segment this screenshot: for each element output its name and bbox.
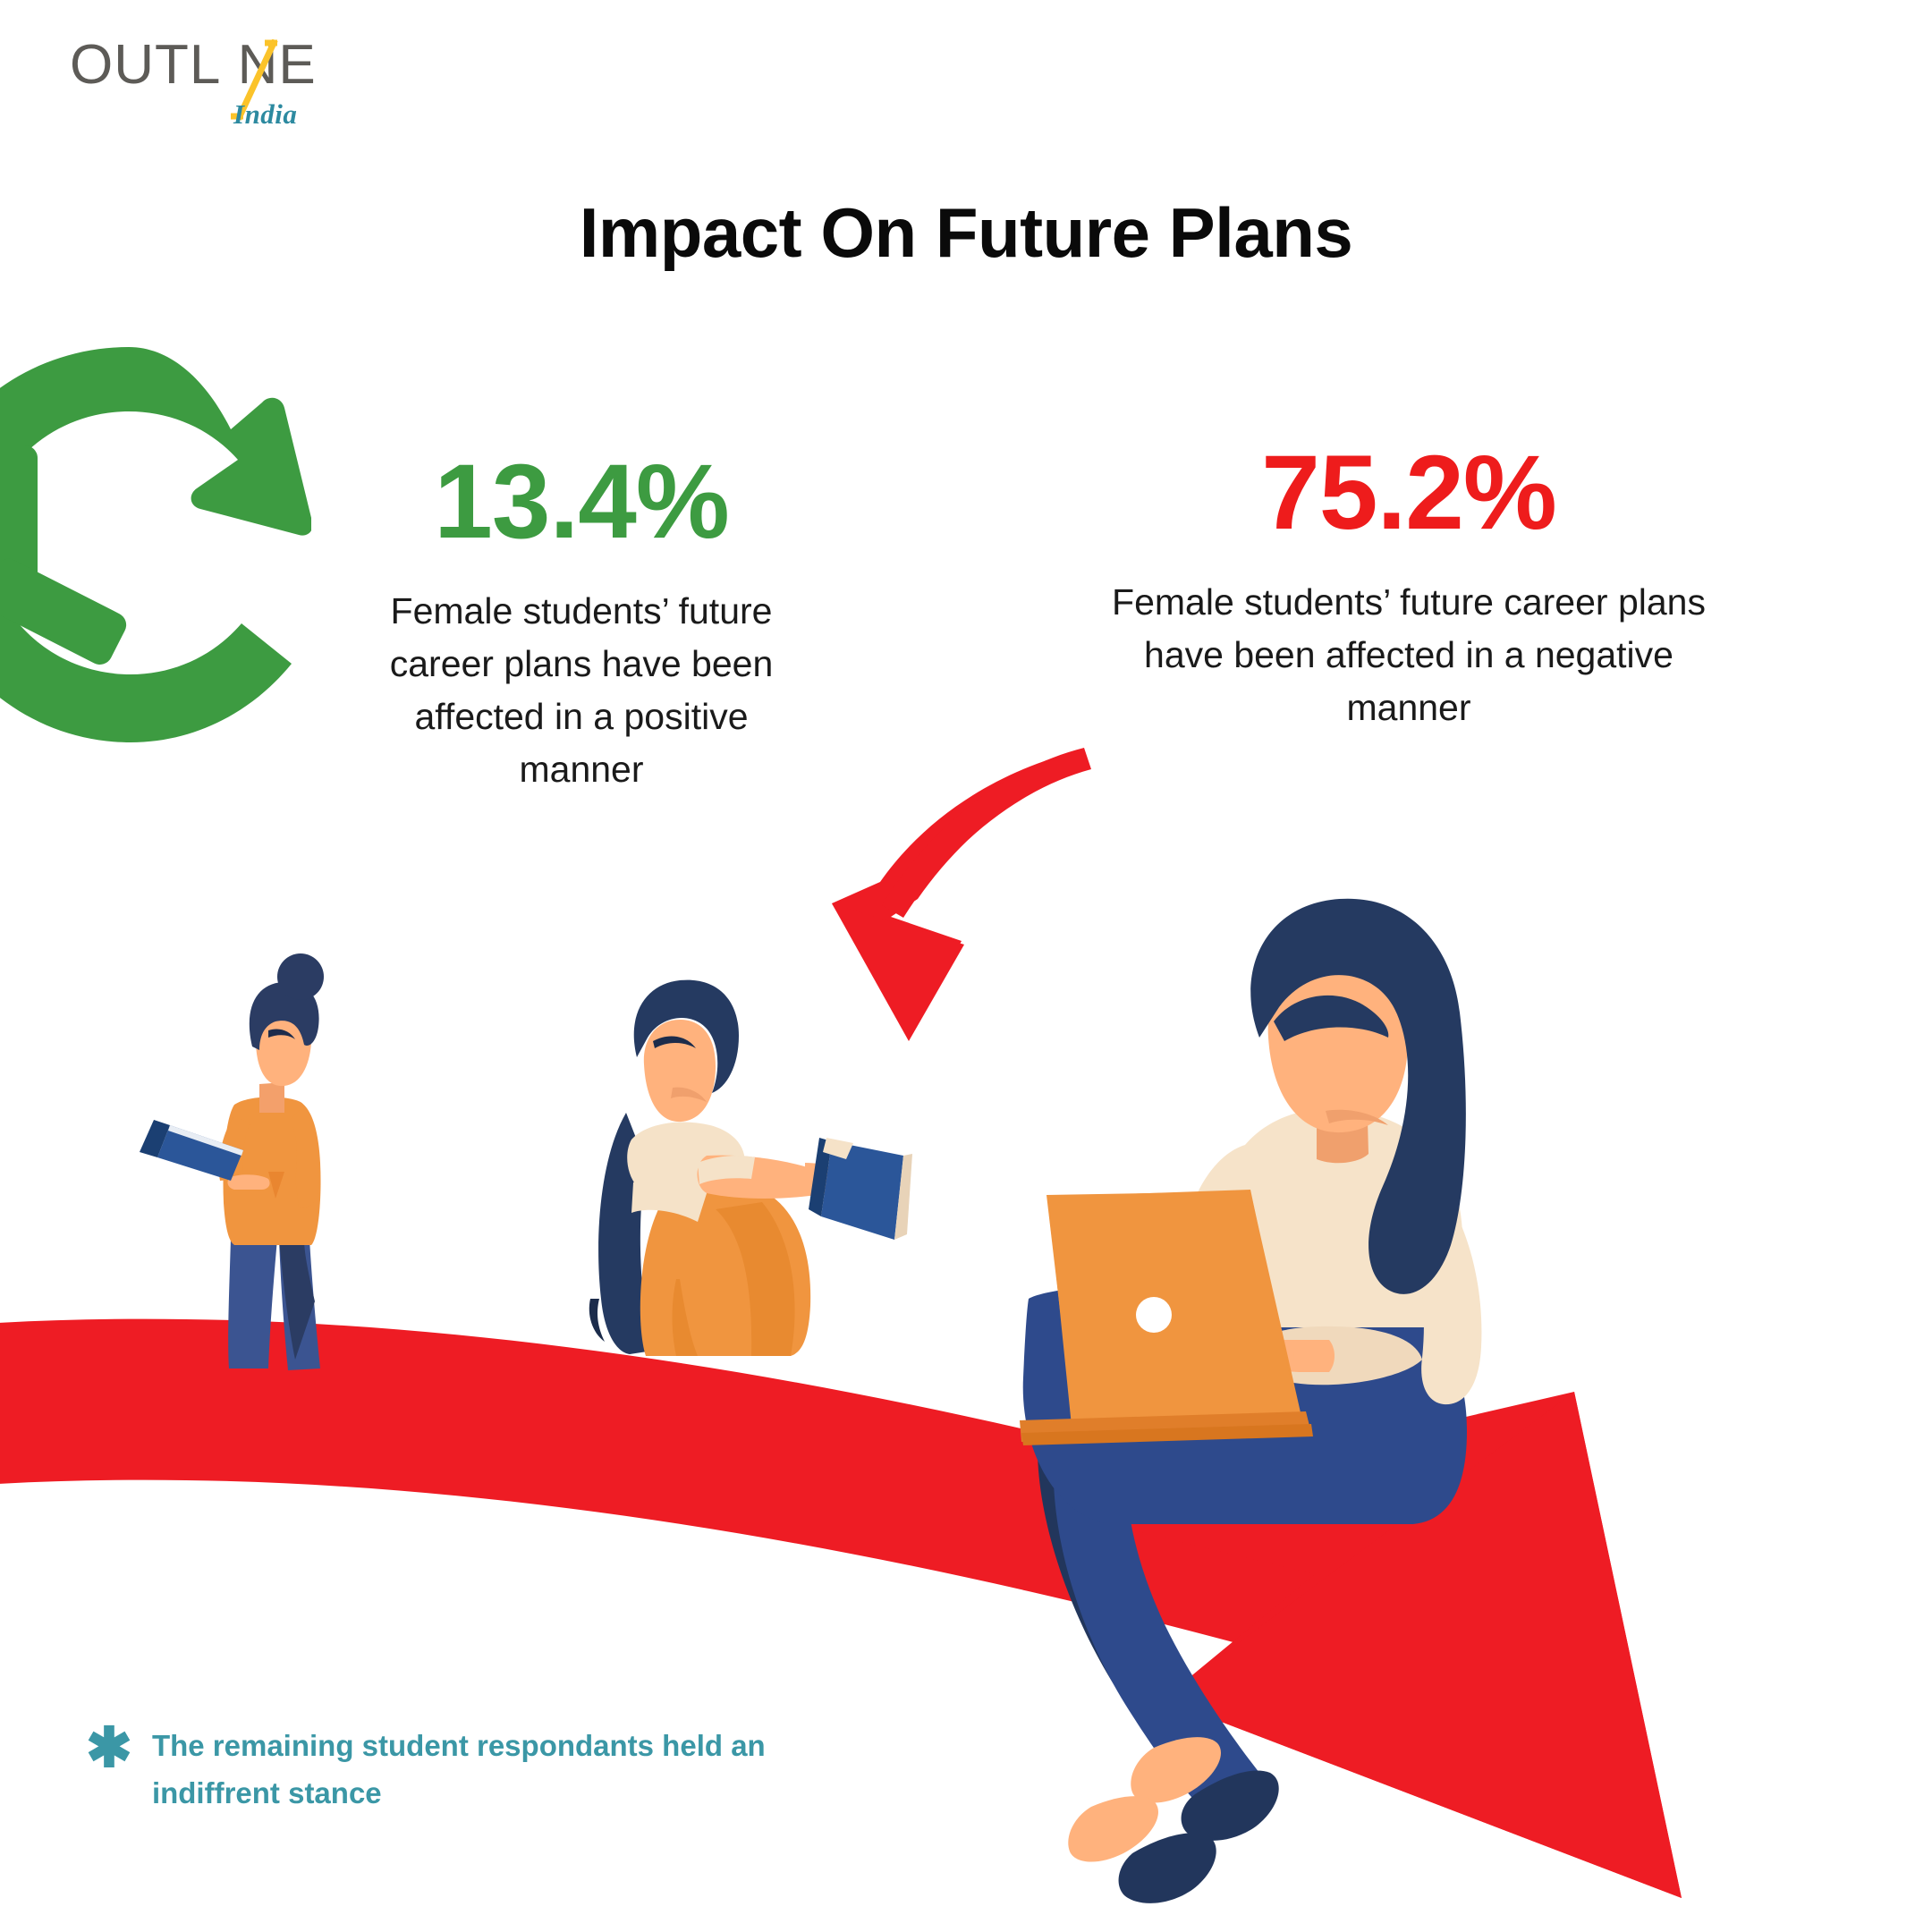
footnote: ✱ The remaining student respondants held… [86,1722,766,1818]
footnote-text: The remaining student respondants held a… [152,1722,766,1818]
infographic-canvas: OUTL/NE India Impact On Future Plans 13.… [0,0,1932,1932]
illustration-scene [0,0,1932,1932]
seated-student-reading-book [589,980,912,1356]
asterisk-icon: ✱ [86,1725,132,1773]
standing-student-with-book [140,953,324,1370]
